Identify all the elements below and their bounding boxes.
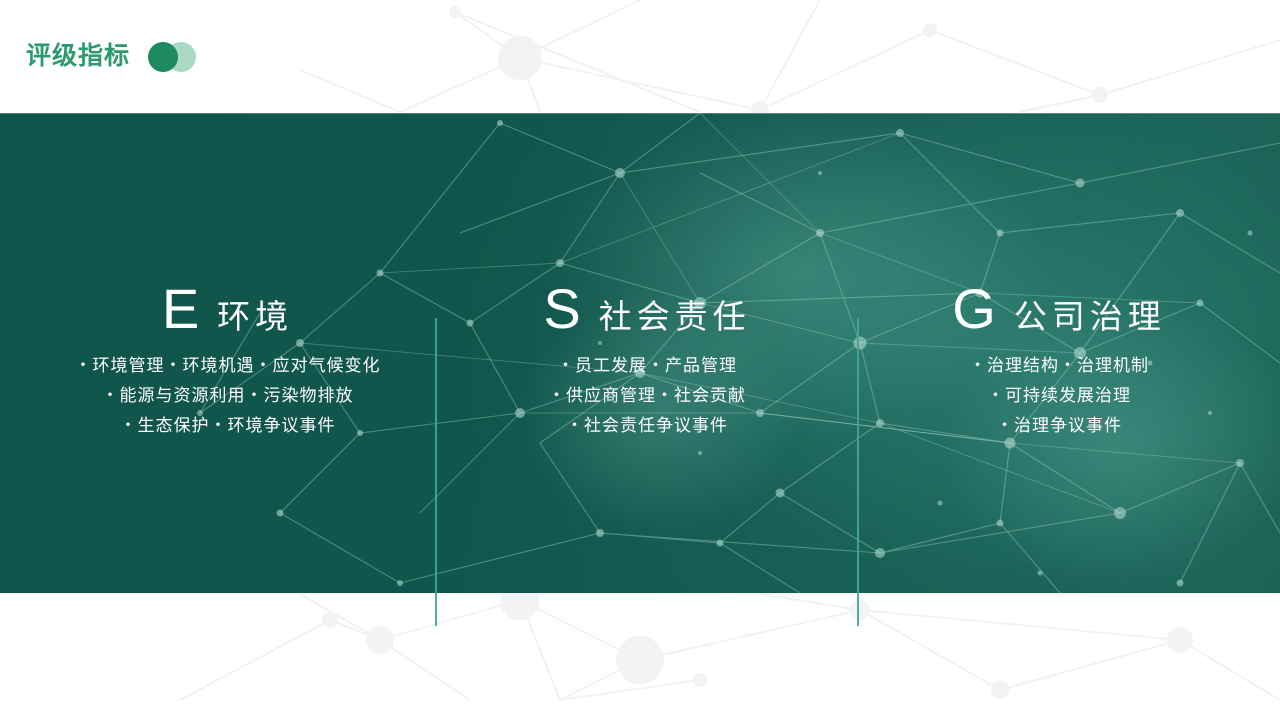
list-item: ・治理争议事件 [859, 411, 1259, 441]
esg-columns: E 环境 ・环境管理・环境机遇・应对气候变化 ・能源与资源利用・污染物排放 ・生… [0, 113, 1280, 593]
column-environment-list: ・环境管理・环境机遇・应对气候变化 ・能源与资源利用・污染物排放 ・生态保护・环… [20, 351, 435, 441]
brand-dot-solid-icon [148, 42, 178, 72]
esg-rating-indicators-page: 评级指标 [0, 0, 1280, 708]
column-governance[interactable]: G 公司治理 ・治理结构・治理机制 ・可持续发展治理 ・治理争议事件 [859, 281, 1259, 441]
page-header: 评级指标 [0, 0, 1280, 113]
list-item: ・环境管理・环境机遇・应对气候变化 [20, 351, 435, 381]
list-item: ・治理结构・治理机制 [859, 351, 1259, 381]
column-environment-letter: E [162, 281, 199, 337]
column-social-letter: S [543, 281, 580, 337]
list-item: ・能源与资源利用・污染物排放 [20, 381, 435, 411]
column-governance-letter: G [952, 281, 996, 337]
page-title: 评级指标 [26, 44, 130, 69]
column-social[interactable]: S 社会责任 ・员工发展・产品管理 ・供应商管理・社会贡献 ・社会责任争议事件 [437, 281, 857, 441]
list-item: ・员工发展・产品管理 [437, 351, 857, 381]
column-social-name: 社会责任 [599, 300, 751, 333]
column-governance-heading: G 公司治理 [859, 281, 1259, 337]
column-environment-heading: E 环境 [20, 281, 435, 337]
column-social-list: ・员工发展・产品管理 ・供应商管理・社会贡献 ・社会责任争议事件 [437, 351, 857, 441]
column-environment-name: 环境 [217, 300, 293, 333]
brand-dots-icon [148, 42, 198, 72]
column-governance-name: 公司治理 [1014, 300, 1166, 333]
list-item: ・社会责任争议事件 [437, 411, 857, 441]
list-item: ・供应商管理・社会贡献 [437, 381, 857, 411]
list-item: ・可持续发展治理 [859, 381, 1259, 411]
list-item: ・生态保护・环境争议事件 [20, 411, 435, 441]
column-social-heading: S 社会责任 [437, 281, 857, 337]
column-environment[interactable]: E 环境 ・环境管理・环境机遇・应对气候变化 ・能源与资源利用・污染物排放 ・生… [20, 281, 435, 441]
column-governance-list: ・治理结构・治理机制 ・可持续发展治理 ・治理争议事件 [859, 351, 1259, 441]
